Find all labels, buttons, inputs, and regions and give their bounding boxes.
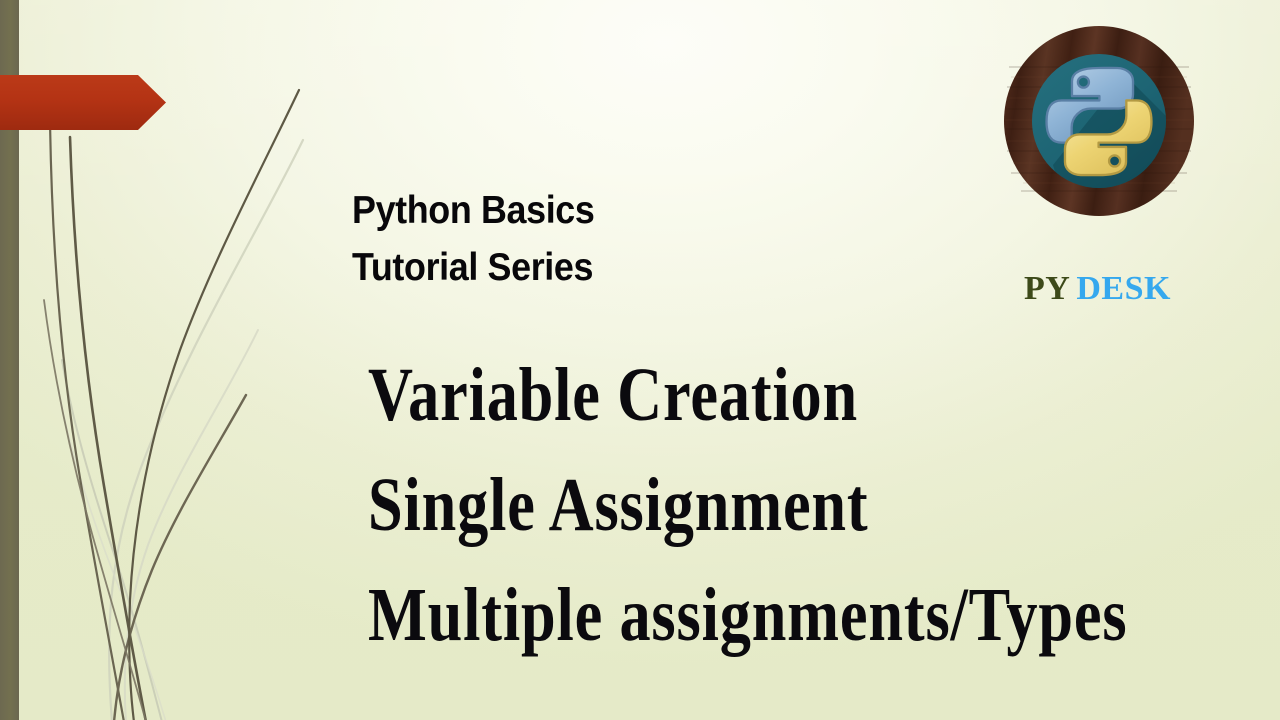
arrow-banner-shape <box>0 75 166 130</box>
logo-wordmark-py: PY <box>1024 270 1070 307</box>
logo-wordmark-desk: DESK <box>1076 270 1171 307</box>
logo-wordmark: PYDESK <box>995 272 1200 306</box>
topic-item-multiple-assignments: Multiple assignments/Types <box>368 560 1073 670</box>
series-title: Python Basics Tutorial Series <box>352 182 594 296</box>
topic-item-variable-creation: Variable Creation <box>368 340 1073 450</box>
topic-item-single-assignment: Single Assignment <box>368 450 1073 560</box>
presentation-slide: Python Basics Tutorial Series Variable C… <box>0 0 1280 720</box>
brand-logo: PYDESK <box>995 25 1200 300</box>
series-title-line-1: Python Basics <box>352 182 594 239</box>
series-title-line-2: Tutorial Series <box>352 239 594 296</box>
topic-list: Variable Creation Single Assignment Mult… <box>368 340 1228 670</box>
python-logo-icon <box>1003 25 1195 217</box>
